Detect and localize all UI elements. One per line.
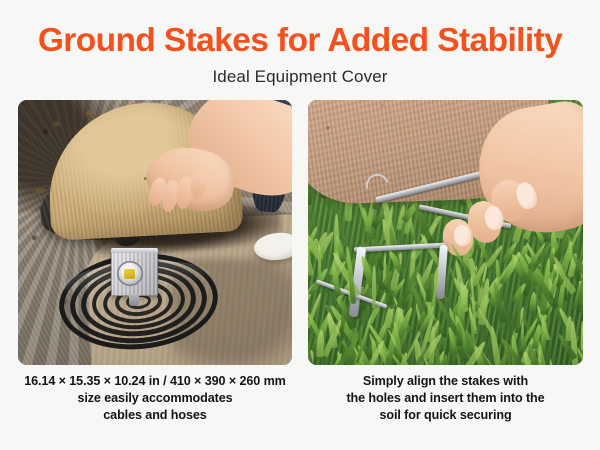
caption-left: 16.14 × 15.35 × 10.24 in / 410 × 390 × 2…	[24, 373, 286, 424]
outlet-socket	[117, 261, 143, 286]
caption-left-line-1: 16.14 × 15.35 × 10.24 in / 410 × 390 × 2…	[24, 373, 286, 390]
outlet-box-lip	[111, 248, 158, 253]
finger	[190, 171, 206, 198]
fabric-speck	[327, 126, 330, 129]
product-photo-cover-lift	[18, 100, 292, 365]
caption-right-line-1: Simply align the stakes with	[346, 373, 544, 390]
stake-top-bar	[354, 243, 446, 252]
caption-right: Simply align the stakes with the holes a…	[346, 373, 544, 424]
fabric-speck	[382, 104, 384, 106]
header: Ground Stakes for Added Stability Ideal …	[0, 0, 600, 86]
electrical-outlet-box	[111, 251, 158, 296]
stake-left-leg	[348, 246, 365, 316]
ground-stake-u-shaped	[314, 243, 485, 328]
grass-blade	[336, 351, 347, 365]
caption-right-line-2: the holes and insert them into the	[346, 390, 544, 407]
stake-right-leg	[436, 245, 447, 300]
page-title: Ground Stakes for Added Stability	[0, 22, 600, 60]
outlet-connector	[124, 269, 136, 279]
panel-right: Simply align the stakes with the holes a…	[308, 100, 583, 424]
product-photo-stake-insert	[308, 100, 583, 365]
panel-left: 16.14 × 15.35 × 10.24 in / 410 × 390 × 2…	[18, 100, 292, 424]
caption-right-line-3: soil for quick securing	[346, 407, 544, 424]
caption-left-line-3: cables and hoses	[24, 407, 286, 424]
panels-row: 16.14 × 15.35 × 10.24 in / 410 × 390 × 2…	[0, 86, 600, 424]
caption-left-line-2: size easily accommodates	[24, 390, 286, 407]
outlet-box-stem	[129, 294, 139, 306]
grass-blade	[497, 301, 504, 344]
page-subtitle: Ideal Equipment Cover	[0, 68, 600, 87]
